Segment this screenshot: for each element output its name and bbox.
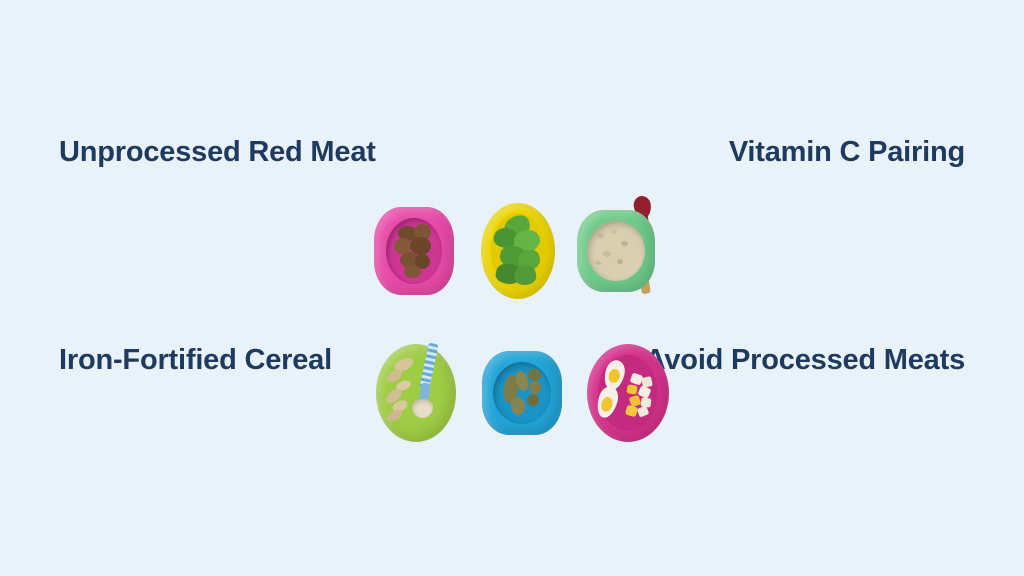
dish-magenta-plate-egg [580, 341, 676, 445]
porridge-surface [587, 221, 645, 281]
egg-half-bottom [594, 384, 621, 420]
dish-pink-bowl-ground-meat [368, 201, 460, 301]
chopped-egg-cluster [623, 374, 657, 418]
spinach-leaves [492, 214, 544, 288]
label-iron-fortified-cereal: Iron-Fortified Cereal [59, 338, 389, 382]
label-avoid-processed-meats: Avoid Processed Meats [635, 338, 965, 382]
dish-cyan-bowl-lentils [476, 345, 568, 441]
label-unprocessed-red-meat: Unprocessed Red Meat [59, 130, 379, 174]
dish-green-plate-chicken [368, 339, 464, 447]
slide-canvas: Unprocessed Red Meat Vitamin C Pairing I… [0, 0, 1024, 576]
label-vitamin-c-pairing: Vitamin C Pairing [635, 130, 965, 174]
ground-meat-pile [390, 222, 438, 280]
food-photo-row-bottom [368, 338, 664, 448]
egg-arrangement [597, 356, 659, 430]
food-photo-row-top [368, 196, 664, 306]
dish-green-bowl-porridge [576, 196, 672, 306]
legume-pieces [498, 367, 546, 419]
chicken-pieces [384, 359, 424, 423]
dish-yellow-plate-spinach [472, 199, 564, 303]
